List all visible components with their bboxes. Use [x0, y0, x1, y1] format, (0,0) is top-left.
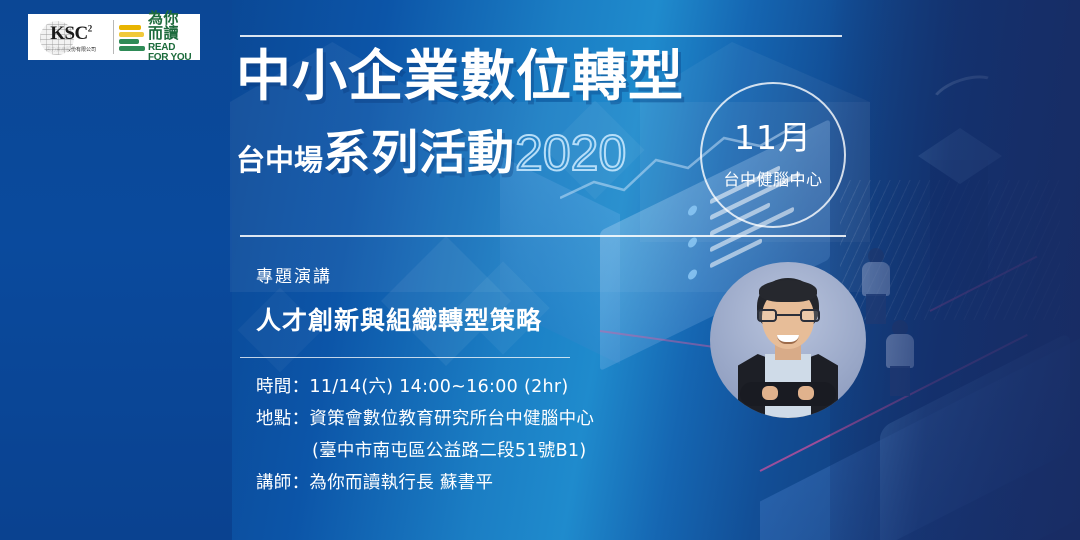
- headline-group: 中小企業數位轉型 台中場 系列活動 2020: [236, 48, 684, 183]
- read-for-you-chinese: 為你而讀: [148, 11, 194, 41]
- event-details: 時間：11/14(六) 14:00~16:00 (2hr) 地點：資策會數位教育…: [256, 372, 594, 499]
- event-banner: KSC2 思力資產股份有限公司 為你而讀 READ FOR YOU 中小企業數位…: [0, 0, 1080, 540]
- detail-time: 時間：11/14(六) 14:00~16:00 (2hr): [256, 372, 594, 404]
- headline-main: 系列活動: [323, 114, 515, 183]
- date-badge: 11月 台中健腦中心: [700, 82, 846, 228]
- headline-line-1: 中小企業數位轉型: [236, 48, 684, 106]
- talk-kicker: 專題演講: [256, 262, 542, 287]
- badge-month: 11月: [734, 121, 812, 154]
- background-left-panel: [0, 0, 232, 540]
- divider-lower: [240, 357, 570, 358]
- read-for-you-english: READ FOR YOU: [148, 43, 194, 63]
- badge-place: 台中健腦中心: [723, 166, 822, 190]
- glasses-icon: [757, 309, 777, 322]
- detail-venue: 地點：資策會數位教育研究所台中健腦中心: [256, 404, 594, 436]
- speaker-portrait: [710, 262, 866, 418]
- ksc-superscript: 2: [88, 23, 92, 33]
- talk-block: 專題演講 人才創新與組織轉型策略: [256, 262, 542, 337]
- headline-year: 2020: [515, 124, 626, 183]
- divider-top: [240, 35, 842, 37]
- logo-separator: [113, 20, 114, 54]
- ksc-wordmark: KSC2: [50, 24, 92, 43]
- ksc-mark: KSC: [50, 23, 88, 44]
- read-for-you-logo: 為你而讀 READ FOR YOU: [119, 11, 194, 63]
- headline-prefix: 台中場: [236, 137, 323, 183]
- detail-speaker: 講師：為你而讀執行長 蘇書平: [256, 468, 594, 500]
- stacked-books-icon: [119, 22, 145, 52]
- read-for-you-text: 為你而讀 READ FOR YOU: [148, 11, 194, 63]
- detail-address: (臺中市南屯區公益路二段51號B1): [256, 436, 594, 468]
- headline-line-2: 台中場 系列活動 2020: [236, 114, 684, 183]
- logo-lockup: KSC2 思力資產股份有限公司 為你而讀 READ FOR YOU: [28, 14, 200, 60]
- talk-title: 人才創新與組織轉型策略: [256, 301, 542, 337]
- background-right-overlay: [830, 0, 1080, 540]
- divider-middle: [240, 235, 846, 237]
- ksc-logo: KSC2 思力資產股份有限公司: [34, 17, 108, 57]
